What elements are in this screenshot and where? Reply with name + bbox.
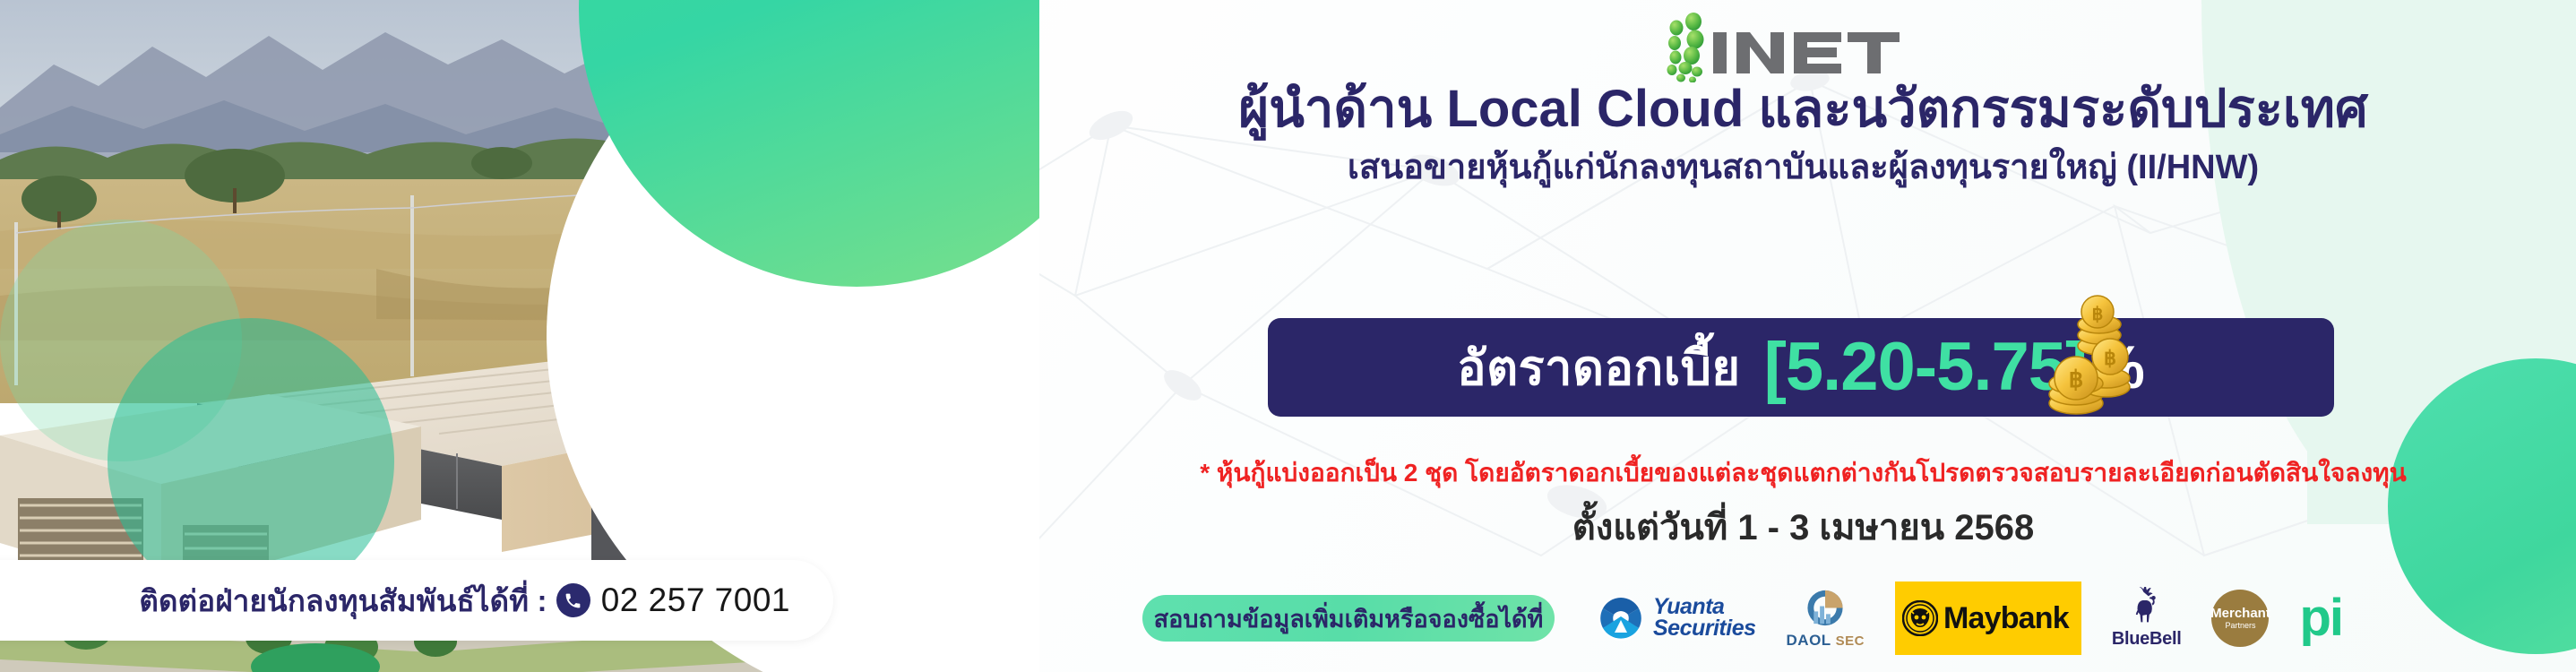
daol-line-2: SEC xyxy=(1836,633,1865,649)
merchant-circle-icon: Merchant Partners xyxy=(2211,590,2269,647)
merchant-line-1: Merchant xyxy=(2210,607,2270,620)
daol-pie-icon xyxy=(1801,587,1849,629)
hero-photo: ติดต่อฝ่ายนักลงทุนสัมพันธ์ได้ที่ : 02 25… xyxy=(0,0,1039,672)
yuanta-wordmark: Yuanta Securities xyxy=(1653,597,1756,640)
daol-wordmark: DAOL SEC xyxy=(1787,632,1865,650)
content-column: ผู้นำด้าน Local Cloud และนวัตกรรมระดับปร… xyxy=(1030,0,2576,672)
partner-merchant[interactable]: Merchant Partners xyxy=(2211,587,2269,650)
daol-line-1: DAOL xyxy=(1787,632,1831,649)
interest-rate-label: อัตราดอกเบี้ย xyxy=(1457,329,1740,406)
merchant-line-2: Partners xyxy=(2225,622,2255,630)
svg-text:฿: ฿ xyxy=(2069,366,2084,392)
svg-text:฿: ฿ xyxy=(2104,347,2116,369)
page-subtitle: เสนอขายหุ้นกู้แก่นักลงทุนสถาบันและผู้ลงท… xyxy=(1030,148,2576,189)
contact-phone-number[interactable]: 02 257 7001 xyxy=(601,582,790,619)
gold-coins-icon: ฿ ฿ ฿ xyxy=(2020,294,2137,419)
inet-logo xyxy=(1658,13,1953,82)
bluebell-wordmark: BlueBell xyxy=(2112,629,2182,650)
partner-pi[interactable]: pi xyxy=(2299,587,2342,650)
partner-daol[interactable]: DAOL SEC xyxy=(1787,587,1865,650)
page-title: ผู้นำด้าน Local Cloud และนวัตกรรมระดับปร… xyxy=(1030,82,2576,137)
contact-panel[interactable]: ติดต่อฝ่ายนักลงทุนสัมพันธ์ได้ที่ : 02 25… xyxy=(0,560,833,641)
inquiry-button[interactable]: สอบถามข้อมูลเพิ่มเติมหรือจองซื้อได้ที่ xyxy=(1142,595,1555,642)
inet-helix-dots-logo xyxy=(1658,13,1953,82)
maybank-wordmark: Maybank xyxy=(1943,601,2069,636)
phone-icon xyxy=(556,583,590,617)
interest-rate-box: อัตราดอกเบี้ย [5.20-5.75] % xyxy=(1268,318,2334,417)
promo-banner: ติดต่อฝ่ายนักลงทุนสัมพันธ์ได้ที่ : 02 25… xyxy=(0,0,2576,672)
partner-bluebell[interactable]: BlueBell xyxy=(2112,587,2182,650)
pi-wordmark-icon: pi xyxy=(2299,598,2342,639)
bluebell-deer-icon xyxy=(2124,587,2170,627)
contact-label: ติดต่อฝ่ายนักลงทุนสัมพันธ์ได้ที่ : xyxy=(139,577,547,625)
yuanta-line-2: Securities xyxy=(1653,618,1756,640)
partner-yuanta[interactable]: Yuanta Securities xyxy=(1598,587,1756,650)
maybank-tiger-icon xyxy=(1902,600,1938,636)
yuanta-mark-icon xyxy=(1598,595,1644,642)
offering-dates: ตั้งแต่วันที่ 1 - 3 เมษายน 2568 xyxy=(1030,498,2576,556)
partner-maybank[interactable]: Maybank xyxy=(1895,582,2081,655)
partner-logo-list: Yuanta Securities xyxy=(1598,582,2342,655)
cta-and-partners-row: สอบถามข้อมูลเพิ่มเติมหรือจองซื้อได้ที่ xyxy=(1030,587,2576,650)
rate-footnote: * หุ้นกู้แบ่งออกเป็น 2 ชุด โดยอัตราดอกเบ… xyxy=(1030,453,2576,493)
svg-text:฿: ฿ xyxy=(2092,305,2104,324)
